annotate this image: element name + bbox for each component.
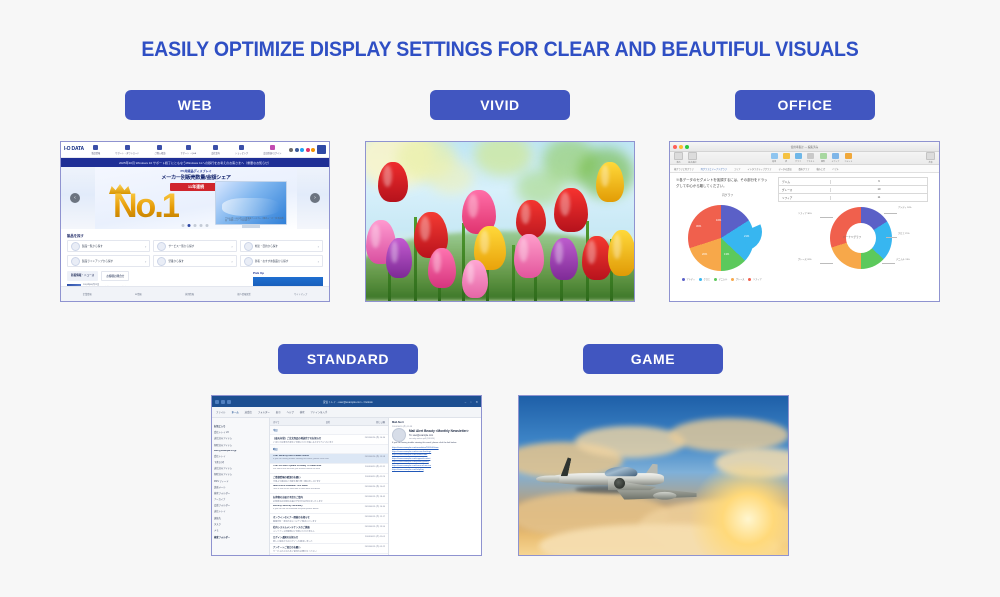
legend-swatch [699, 278, 702, 281]
legend-swatch [682, 278, 685, 281]
pie-label-4: 30% [696, 225, 701, 228]
message-preview: お客様のお荷物のお届け予定日をお知らせいたします [273, 500, 349, 503]
tab-2[interactable]: エリア [734, 167, 741, 171]
callout-line [886, 237, 897, 238]
message-date: 2024/06/20 (木) 12:11 [351, 465, 385, 472]
folder-item[interactable]: 削除済みアイテム [214, 443, 267, 447]
toolbar-label: 追加 [771, 160, 778, 163]
tab-inquiry[interactable]: お客様お問合せ [101, 271, 129, 281]
outlook-body: お気に入り 受信トレイ 23 送信済みアイテム 削除済みアイテム user@ex… [212, 418, 481, 556]
message-date: 2024/06/19 (水) 18:45 [351, 495, 385, 502]
page-title: EASILY OPTIMIZE DISPLAY SETTINGS FOR CLE… [35, 38, 965, 62]
redo-icon[interactable] [227, 400, 231, 404]
folder-header: 検索フォルダー [214, 535, 267, 539]
toolbar-label: 表 [783, 160, 790, 163]
cart-icon [239, 145, 244, 150]
tulip-pink [462, 260, 488, 298]
folder-item[interactable]: 送信トレイ [214, 509, 267, 513]
toolbar-left: 表示 拡大/縮小 [674, 152, 697, 164]
ribbon-tab-help[interactable]: ヘルプ [287, 410, 294, 414]
pie-label-0: 16% [716, 219, 721, 222]
footer-link[interactable]: サイトマップ [294, 292, 307, 296]
legend-item-4: ソフィア [748, 277, 761, 281]
toolbar-label: 共有 [926, 161, 935, 164]
toolbar-label: コメント [844, 160, 852, 163]
news-tabs: 新着情報・ニュース お客様お問合せ [67, 271, 249, 281]
tab-0[interactable]: 棒グラフと円グラフ [674, 167, 694, 171]
hero-line1: PC用液晶ディスプレイ [121, 169, 271, 173]
tab-5[interactable]: 散布グラフ [799, 167, 810, 171]
message-list-header: すべて 日付 新しい順 [270, 418, 388, 426]
bokeh [474, 142, 532, 176]
new-icon [244, 257, 253, 266]
tab-3[interactable]: インタラクティブグラフ [748, 167, 772, 171]
lineup-icon [71, 257, 80, 266]
cloud [669, 418, 788, 452]
toolbar-table[interactable]: 表 [783, 153, 790, 163]
search-link-0[interactable]: 製品一覧から探す› [67, 240, 150, 252]
social-icon[interactable] [295, 148, 299, 152]
message-date: 2024/06/20 (木) 14:36 [351, 436, 385, 443]
toolbar-label: 拡大/縮小 [688, 161, 697, 164]
nav-label: 会社案内 [211, 151, 220, 155]
info-icon [157, 145, 162, 150]
message-subject: オンラインセミナー開催のお知らせ [273, 515, 349, 519]
cell-name: グレース [779, 188, 831, 192]
callout-line [884, 213, 897, 214]
tulip-red [554, 188, 588, 232]
minimize-icon[interactable] [679, 145, 683, 149]
message-preview: 開催日時・参加方法についてご案内いたします [273, 520, 349, 523]
tulip-yellow [596, 162, 624, 202]
ribbon-tab-file[interactable]: ファイル [216, 410, 226, 414]
preview-thumbnail-standard[interactable]: 受信トレイ - user@example.com - Outlook − ▫ ✕… [211, 395, 482, 556]
search-link-5[interactable]: 新着・おすすめ製品から探す› [240, 255, 323, 267]
link-label: 新着・おすすめ製品から探す [255, 259, 316, 263]
tulip-purple [550, 238, 578, 280]
folder-item[interactable]: 受信トレイ [214, 454, 267, 458]
chart-icon [795, 153, 802, 159]
carousel-pager[interactable] [182, 224, 209, 227]
message-row[interactable]: 【楽天市場】ご注文商品の発送完了のお知らせこのたびは楽天市場をご利用いただき誠に… [270, 435, 388, 445]
message-row[interactable]: お荷物のお届け予定のご案内お客様のお荷物のお届け予定日をお知らせいたします 20… [270, 494, 388, 504]
social-icon[interactable] [306, 148, 310, 152]
folder-header: お気に入り [214, 424, 267, 428]
preview-thumbnail-web[interactable]: I-O DATA 製品情報 サポート・ダウンロード ご購入相談 サポート・Q&A… [60, 141, 330, 302]
maximize-icon[interactable] [685, 145, 689, 149]
donut-label-0: アンディ 16% [898, 207, 912, 210]
nav-label: 製品情報 [91, 151, 100, 155]
message-group-yesterday: 昨日 [270, 445, 388, 454]
pie-legend: アンディ クロエ デニムル グレース ソフィア [682, 277, 762, 281]
ribbon-tab-addins[interactable]: アドインを入手 [311, 410, 328, 414]
toolbar-comment[interactable]: コメント [844, 153, 852, 163]
search-link-1[interactable]: サービス一覧から探す› [153, 240, 236, 252]
message-row[interactable]: New Offers Available This WeekTake a loo… [270, 484, 388, 494]
ribbon-tab-view[interactable]: 表示 [276, 410, 281, 414]
product-search-grid: 製品一覧から探す› サービス一覧から探す› 用途・目的から探す› 製品ラインアッ… [61, 240, 329, 267]
message-row[interactable]: オンラインセミナー開催のお知らせ開催日時・参加方法についてご案内いたします 20… [270, 514, 388, 524]
model-icon [157, 257, 166, 266]
table-row[interactable]: ソフィア 11 [778, 194, 928, 202]
reading-link[interactable]: https://www.example.com/newsletter/2024-… [392, 447, 478, 449]
hero-banner[interactable]: PC用液晶ディスプレイ メーカー別販売数量/金額シェア 11年連続 No.1 ※… [61, 167, 329, 229]
site-footer: 企業情報 IR情報 採用情報 個人情報保護 サイトマップ [61, 286, 329, 301]
nav-item-6[interactable]: 会員登録/ログイン [263, 145, 281, 155]
legend-swatch [714, 278, 717, 281]
social-icon[interactable] [300, 148, 304, 152]
sun-glow [688, 459, 788, 555]
share-icon [926, 152, 935, 160]
folder-pane: お気に入り 受信トレイ 23 送信済みアイテム 削除済みアイテム user@ex… [212, 418, 270, 556]
folder-item[interactable]: メモ [214, 528, 267, 532]
window-titlebar: 使用率集計 — 編集済み [670, 142, 939, 152]
media-icon [832, 153, 839, 159]
fighter-jet [547, 456, 687, 501]
cell-value: 10 [831, 188, 927, 191]
message-subject: お荷物のお届け予定のご案内 [273, 495, 349, 499]
folder-item[interactable]: 連絡先 [214, 516, 267, 520]
nav-item-3[interactable]: サポート・Q&A [181, 145, 197, 155]
toolbar-right: 共有 [926, 152, 935, 164]
site-notice-bar[interactable]: 2025年10月 Windows 10 サポート終了にともなうWindows 1… [61, 158, 329, 167]
legend-item-3: グレース [731, 277, 744, 281]
folder-item[interactable]: 削除済みアイテム [214, 472, 267, 476]
pie-label-2: 13% [724, 253, 729, 256]
sort-order[interactable]: 新しい順 [376, 420, 385, 424]
mode-pill-office[interactable]: OFFICE [735, 90, 875, 120]
folder-item[interactable]: 会議フォルダー [214, 503, 267, 507]
toolbar-share[interactable]: 共有 [926, 152, 935, 164]
callout-line [882, 263, 895, 264]
chevron-right-icon: › [318, 244, 319, 249]
toolbar-shape[interactable]: 図形 [820, 153, 827, 163]
search-link-3[interactable]: 製品ラインアップから探す› [67, 255, 150, 267]
legend-label: アンディ [687, 277, 696, 281]
nav-label: サポート・Q&A [181, 151, 197, 155]
folder-item[interactable]: 送信済みアイテム [214, 466, 267, 470]
shape-icon [820, 153, 827, 159]
ribbon-tab-search[interactable]: 検索 [300, 410, 305, 414]
view-icon [674, 152, 683, 160]
cell-name: ソフィア [779, 196, 831, 200]
legend-item-2: デニムル [714, 277, 727, 281]
quick-access-toolbar[interactable] [215, 400, 231, 404]
link-label: 用途・目的から探す [255, 244, 316, 248]
footer-link[interactable]: IR情報 [135, 292, 142, 296]
message-row[interactable]: 社内システムメンテナンスのご連絡メンテナンス時間帯はご利用いただけません 202… [270, 524, 388, 534]
message-row[interactable]: Monthly Security SummaryIf you are not t… [270, 504, 388, 514]
message-preview: If you are having trouble viewing this e… [273, 458, 349, 460]
footer-link[interactable]: 採用情報 [185, 292, 194, 296]
search-link-2[interactable]: 用途・目的から探す› [240, 240, 323, 252]
message-date: 2024/06/20 (木) 13:58 [351, 455, 385, 462]
link-label: サービス一覧から探す [168, 244, 229, 248]
window-title: 使用率集計 — 編集済み [791, 145, 818, 149]
support-icon [125, 145, 130, 150]
chevron-right-icon: › [231, 259, 232, 264]
pickup-title: Pick Up [253, 271, 323, 275]
pie-label-1: 21% [744, 235, 749, 238]
message-subject: 社内システムメンテナンスのご連絡 [273, 525, 349, 529]
mode-pill-standard[interactable]: STANDARD [278, 344, 418, 374]
promo-page: EASILY OPTIMIZE DISPLAY SETTINGS FOR CLE… [0, 0, 1000, 597]
message-row[interactable]: Your Account Update is Ready To Read Now… [270, 464, 388, 474]
chevron-right-icon: › [231, 244, 232, 249]
toolbar-text[interactable]: テキスト [807, 153, 815, 163]
legend-swatch [748, 278, 751, 281]
search-icon[interactable] [317, 145, 326, 154]
tab-7[interactable]: バブル [832, 167, 839, 171]
table-row[interactable]: デニム 9 [778, 177, 928, 186]
nav-item-0[interactable]: 製品情報 [91, 145, 100, 155]
hero-headline-no1: No.1 [113, 189, 179, 223]
search-link-4[interactable]: 型番から探す› [153, 255, 236, 267]
folder-item[interactable]: アーカイブ [214, 497, 267, 501]
message-group-today: 今日 [270, 426, 388, 435]
list-icon [71, 242, 80, 251]
message-preview: このたびは楽天市場をご利用いただき誠にありがとうございます [273, 441, 349, 444]
ribbon-tabs: ファイル ホーム 送受信 フォルダー 表示 ヘルプ 検索 アドインを入手 [212, 407, 481, 418]
tab-1-selected[interactable]: 円グラフとドーナツグラフ [701, 167, 727, 171]
comment-icon [845, 153, 852, 159]
tab-6[interactable]: 積み上げ [817, 167, 826, 171]
legend-label: デニムル [719, 277, 728, 281]
nav-item-4[interactable]: 会社案内 [211, 145, 220, 155]
cell-value: 9 [831, 180, 927, 183]
pie-chart[interactable] [688, 205, 754, 271]
pager-dot-active[interactable] [188, 224, 191, 227]
preview-thumbnail-vivid[interactable] [365, 141, 635, 302]
pager-dot[interactable] [206, 224, 209, 227]
message-date: 2024/06/20 (木) 10:02 [351, 485, 385, 492]
donut-label-3: グレース 20% [798, 259, 812, 262]
message-date: 2024/06/19 (水) 13:50 [351, 525, 385, 532]
carousel-prev-icon[interactable]: ‹ [70, 193, 80, 203]
chevron-right-icon: › [145, 259, 146, 264]
site-logo-text: I-O DATA [64, 146, 84, 152]
purpose-icon [244, 242, 253, 251]
mode-pill-game[interactable]: GAME [583, 344, 723, 374]
message-row[interactable]: ログイン通知のお知らせ新しい端末からのログインを検出しました 2024/06/1… [270, 534, 388, 544]
section-title: 製品を探す [61, 229, 329, 240]
nav-item-5[interactable]: ショッピング [235, 145, 248, 155]
message-preview: 新しい端末からのログインを検出しました [273, 540, 349, 543]
toolbar-center: 追加 表 グラフ テキスト 図形 メディア コメント [771, 153, 853, 163]
reading-sender: Mail Alert [392, 421, 478, 424]
callout-line [820, 217, 833, 218]
message-preview: If you are not the intended recipient pl… [273, 508, 349, 510]
minimize-icon[interactable]: − [465, 400, 467, 404]
legend-label: グレース [736, 277, 745, 281]
zoom-icon [688, 152, 697, 160]
message-preview: Take a look at our selection of new item… [273, 488, 349, 490]
callout-line [820, 263, 833, 264]
donut-label-1: クロエ 21% [898, 233, 910, 236]
tulip-yellow [608, 230, 634, 276]
toolbar-label: メディア [832, 160, 840, 163]
social-links[interactable] [289, 148, 315, 152]
reading-link[interactable]: https://www.example.com/unsubscribe [392, 454, 478, 456]
message-date: 2024/06/19 (水) 15:17 [351, 515, 385, 522]
jet-intake [614, 478, 625, 489]
cell-name: デニム [779, 180, 831, 184]
sort-label[interactable]: すべて [273, 420, 279, 424]
cell-value: 11 [831, 196, 927, 199]
link-label: 製品ラインアップから探す [82, 259, 143, 263]
bokeh [428, 160, 474, 194]
toolbar-label: 表示 [674, 161, 683, 164]
reading-link[interactable]: https://www.example.com/privacy-policy [392, 461, 478, 463]
social-icon[interactable] [311, 148, 315, 152]
toolbar-zoom[interactable]: 拡大/縮小 [688, 152, 697, 164]
donut-chart-title: ドーナツグラフ [843, 235, 861, 239]
maximize-icon[interactable]: ▫ [470, 400, 471, 404]
carousel-next-icon[interactable]: › [310, 193, 320, 203]
mode-pill-web[interactable]: WEB [125, 90, 265, 120]
tulip-purple [386, 238, 412, 278]
window-controls[interactable]: − ▫ ✕ [465, 400, 478, 404]
close-icon[interactable] [673, 145, 677, 149]
pie-label-3: 20% [702, 253, 707, 256]
ribbon-tab-home[interactable]: ホーム [232, 410, 239, 414]
user-icon [270, 145, 275, 150]
folder-item[interactable]: 迷惑メール [214, 485, 267, 489]
table-icon [783, 153, 790, 159]
folder-item[interactable]: RSS フィード [214, 479, 267, 483]
nav-label: サポート・ダウンロード [115, 151, 139, 155]
data-table[interactable]: デニム 9 グレース 10 ソフィア 11 [778, 177, 928, 202]
monitor-glare [222, 198, 280, 216]
message-row[interactable]: ご登録情報の確認のお願い平素より格別のご高配を賜り厚く御礼申し上げます 2024… [270, 474, 388, 484]
preview-thumbnail-game[interactable] [518, 395, 789, 556]
toolbar-media[interactable]: メディア [832, 153, 840, 163]
toolbar-view[interactable]: 表示 [674, 152, 683, 164]
message-list: すべて 日付 新しい順 今日 【楽天市場】ご注文商品の発送完了のお知らせこのたび… [270, 418, 389, 556]
ribbon-tab-sendrecv[interactable]: 送受信 [245, 410, 252, 414]
heart-icon [186, 145, 191, 150]
donut-label-4: ソフィア 30% [798, 213, 812, 216]
footer-link[interactable]: 個人情報保護 [237, 292, 250, 296]
sheet-tabs: 棒グラフと円グラフ 円グラフとドーナツグラフ エリア インタラクティブグラフ デ… [670, 165, 939, 173]
hero-slide: PC用液晶ディスプレイ メーカー別販売数量/金額シェア 11年連続 No.1 ※… [95, 167, 297, 229]
reading-date: 2024/06/20 (木) 13:58 [392, 425, 478, 428]
sort-field[interactable]: 日付 [326, 420, 330, 424]
message-subject: 【楽天市場】ご注文商品の発送完了のお知らせ [273, 436, 349, 440]
donut-label-2: デニムル 13% [896, 259, 910, 262]
legend-label: ソフィア [753, 277, 762, 281]
insert-icon [771, 153, 778, 159]
folder-item[interactable]: 送信済みアイテム [214, 436, 267, 440]
jet-nose [536, 476, 559, 483]
folder-item[interactable]: 受信トレイ 23 [214, 430, 267, 434]
message-preview: For offers and services you should choos… [273, 468, 349, 470]
reading-link[interactable]: https://www.example.com/support/contact [392, 458, 478, 460]
toolbar-chart[interactable]: グラフ [795, 153, 802, 163]
message-subject: ログイン通知のお知らせ [273, 535, 349, 539]
social-icon[interactable] [289, 148, 293, 152]
reading-link[interactable]: https://www.example.com/account/settings [392, 451, 478, 453]
reading-body: If you are having trouble viewing this e… [392, 442, 478, 445]
legend-item-0: アンディ [682, 277, 695, 281]
pager-dot[interactable] [182, 224, 185, 227]
ribbon-tab-folder[interactable]: フォルダー [258, 410, 270, 414]
window-title: 受信トレイ - user@example.com - Outlook [323, 400, 373, 404]
tulip-pink [428, 248, 456, 288]
tulip-photo [366, 142, 634, 301]
table-row[interactable]: グレース 10 [778, 186, 928, 194]
save-icon[interactable] [215, 400, 219, 404]
toolbar-label: グラフ [795, 160, 802, 163]
folder-item[interactable]: 下書き [2] [214, 460, 267, 464]
legend-label: クロエ [704, 277, 711, 281]
close-icon[interactable]: ✕ [475, 400, 478, 404]
pie-chart-title: 円グラフ [722, 193, 733, 197]
site-nav: 製品情報 サポート・ダウンロード ご購入相談 サポート・Q&A 会社案内 ショッ… [84, 145, 289, 155]
service-icon [157, 242, 166, 251]
jet-photo [519, 396, 788, 555]
reading-pane: Mail Alert 2024/06/20 (木) 13:58 Mail Ale… [389, 418, 481, 556]
message-preview: メンテナンス時間帯はご利用いただけません [273, 530, 349, 533]
nav-label: ご購入相談 [154, 151, 165, 155]
pager-dot[interactable] [200, 224, 203, 227]
tab-news[interactable]: 新着情報・ニュース [67, 271, 98, 281]
tulip-red [378, 162, 408, 202]
hero-caption: ※2013年〜2023年 PC用液晶ディスプレイ国内メーカー別 販売数量・金額シ… [225, 218, 285, 223]
jet-fuel-pod [653, 492, 676, 500]
message-date: 2024/06/20 (木) 11:24 [351, 475, 385, 482]
app-toolbar: 表示 拡大/縮小 追加 表 グラフ テキスト 図形 メディア コメント 共有 [670, 152, 939, 165]
folder-item[interactable]: タスク [214, 522, 267, 526]
tab-4[interactable]: データの追加 [778, 167, 791, 171]
reading-link[interactable]: https://www.example.com/help/faq [392, 469, 478, 471]
toolbar-label: テキスト [807, 160, 815, 163]
jet-canopy [605, 467, 638, 476]
tulip-pink [514, 234, 544, 278]
chevron-right-icon: › [145, 244, 146, 249]
footer-link[interactable]: 企業情報 [83, 292, 92, 296]
reading-link[interactable]: https://www.example.com/terms-of-service [392, 465, 478, 467]
message-row-selected[interactable]: Your Security Alert Please followIf you … [270, 454, 388, 464]
message-row[interactable]: アンケートご協力のお願いサービス向上のためご意見をお聞かせください 2024/0… [270, 544, 388, 554]
link-label: 製品一覧から探す [82, 244, 143, 248]
message-subject: ご登録情報の確認のお願い [273, 475, 349, 479]
link-label: 型番から探す [168, 259, 229, 263]
undo-icon[interactable] [221, 400, 225, 404]
tulip-red [516, 200, 546, 238]
toolbar-insert[interactable]: 追加 [771, 153, 778, 163]
mode-pill-vivid[interactable]: VIVID [430, 90, 570, 120]
folder-header: user@example.co.jp [214, 450, 267, 452]
site-header: I-O DATA 製品情報 サポート・ダウンロード ご購入相談 サポート・Q&A… [61, 142, 329, 158]
legend-swatch [731, 278, 734, 281]
message-subject: アンケートご協力のお願い [273, 545, 349, 549]
message-preview: 平素より格別のご高配を賜り厚く御礼申し上げます [273, 480, 349, 483]
nav-item-1[interactable]: サポート・ダウンロード [115, 145, 139, 155]
pager-dot[interactable] [194, 224, 197, 227]
text-icon [807, 153, 814, 159]
nav-label: 会員登録/ログイン [263, 151, 281, 155]
sheet-canvas: ※各データのセグメントを強調するには、その部分をドラッグして中心から離してくださ… [670, 173, 939, 302]
nav-item-2[interactable]: ご購入相談 [154, 145, 165, 155]
cloud [575, 426, 685, 458]
preview-thumbnail-office[interactable]: 使用率集計 — 編集済み 表示 拡大/縮小 追加 表 グラフ テキスト 図形 メ… [669, 141, 940, 302]
message-date: 2024/06/19 (水) 11:05 [351, 535, 385, 542]
folder-item[interactable]: 検索フォルダー [214, 491, 267, 495]
legend-item-1: クロエ [699, 277, 710, 281]
grid-icon [93, 145, 98, 150]
window-titlebar: 受信トレイ - user@example.com - Outlook − ▫ ✕ [212, 396, 481, 407]
